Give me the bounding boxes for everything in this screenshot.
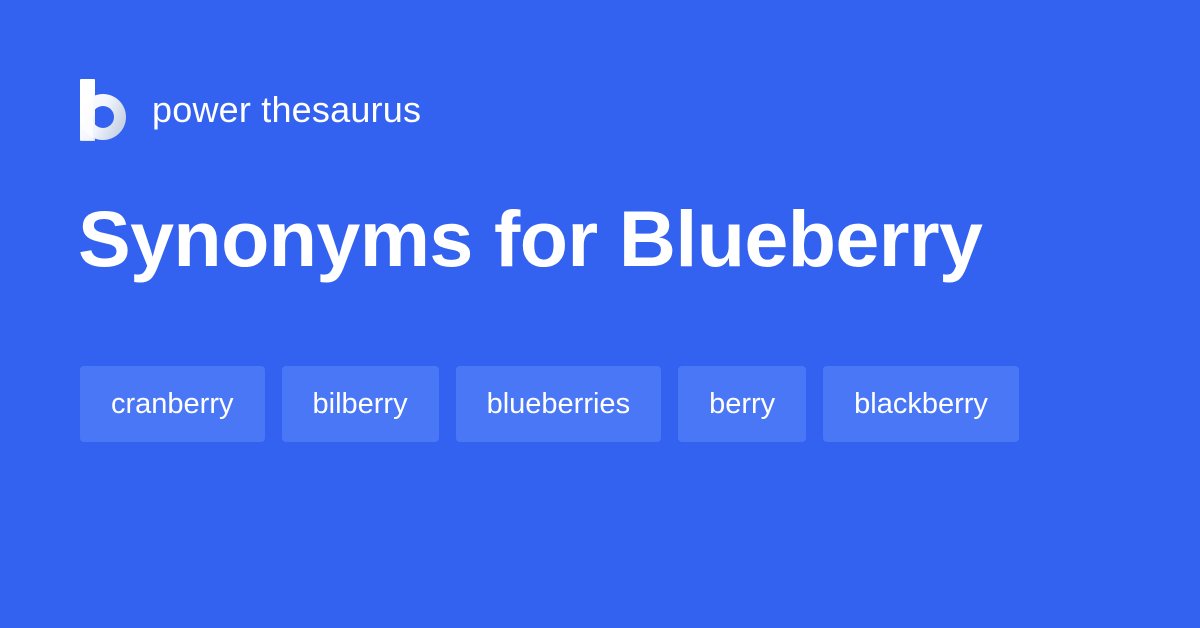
synonym-chip[interactable]: blackberry (823, 366, 1019, 442)
page-title: Synonyms for Blueberry (78, 196, 1138, 281)
brand-logo[interactable]: power thesaurus (80, 79, 421, 141)
brand-name: power thesaurus (152, 92, 421, 128)
synonym-chip[interactable]: cranberry (80, 366, 265, 442)
synonym-chip[interactable]: bilberry (282, 366, 439, 442)
social-preview-card: power thesaurus Synonyms for Blueberry c… (0, 0, 1200, 628)
synonym-chip[interactable]: blueberries (456, 366, 661, 442)
power-thesaurus-b-logo-icon (80, 79, 130, 141)
synonym-list: cranberry bilberry blueberries berry bla… (80, 366, 1140, 442)
synonym-chip[interactable]: berry (678, 366, 806, 442)
